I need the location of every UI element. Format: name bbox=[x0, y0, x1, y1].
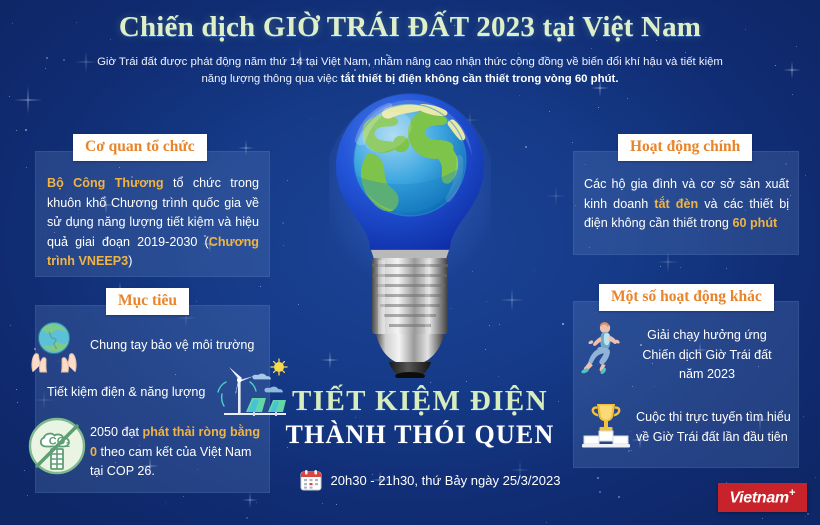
slogan-line-1: TIẾT KIỆM ĐIỆN bbox=[250, 385, 590, 418]
slogan-line-2: THÀNH THÓI QUEN bbox=[250, 420, 590, 450]
calendar-icon bbox=[300, 469, 322, 491]
subtitle-bold-text: tắt thiết bị điện không cần thiết trong … bbox=[341, 73, 619, 85]
event-date-text: 20h30 - 21h30, thứ Bảy ngày 25/3/2023 bbox=[331, 473, 561, 488]
text-co-quan-to-chuc: Bộ Công Thương tổ chức trong khuôn khổ C… bbox=[47, 174, 259, 272]
org-body-close: ) bbox=[128, 254, 132, 268]
logo-wordmark: Vietnam bbox=[729, 489, 789, 506]
infographic-poster: Chiến dịch GIỜ TRÁI ĐẤT 2023 tại Việt Na… bbox=[0, 0, 820, 525]
vietnamplus-logo[interactable]: Vietnam+ bbox=[718, 483, 807, 512]
trophy-podium-icon bbox=[578, 396, 634, 452]
goal-text-2: Tiết kiệm điện & năng lượng bbox=[47, 383, 247, 403]
page-title: Chiến dịch GIỜ TRÁI ĐẤT 2023 tại Việt Na… bbox=[0, 11, 820, 44]
org-highlight-ministry: Bộ Công Thương bbox=[47, 176, 164, 190]
goal-text-1: Chung tay bảo vệ môi trường bbox=[90, 336, 270, 356]
no-co2-icon: CO 2 bbox=[26, 415, 88, 477]
goal3-text-prefix: 2050 đạt bbox=[90, 425, 143, 439]
text-hoat-dong-chinh: Các hộ gia đình và cơ sở sản xuất kinh d… bbox=[584, 175, 789, 234]
section-label-hoat-dong-khac: Một số hoạt động khác bbox=[599, 284, 774, 311]
goal-text-3: 2050 đạt phát thải ròng bằng 0 theo cam … bbox=[90, 423, 265, 482]
earth-lightbulb-icon bbox=[329, 88, 491, 378]
event-date-row: 20h30 - 21h30, thứ Bảy ngày 25/3/2023 bbox=[250, 469, 610, 491]
svg-text:2: 2 bbox=[66, 440, 70, 449]
hands-globe-icon bbox=[25, 318, 83, 374]
section-label-hoat-dong-chinh: Hoạt động chính bbox=[618, 134, 752, 161]
other-activity-text-2: Cuộc thi trực tuyến tìm hiểu về Giờ Trái… bbox=[636, 408, 796, 447]
goal3-text-suffix: theo cam kết của Việt Nam tại COP 26. bbox=[90, 445, 251, 479]
logo-plus-symbol: + bbox=[789, 487, 795, 499]
other-activity-text-1: Giải chạy hưởng ứng Chiến dịch Giờ Trái … bbox=[632, 326, 782, 385]
section-label-co-quan-to-chuc: Cơ quan tổ chức bbox=[73, 134, 207, 161]
main-activity-highlight-60-phut: 60 phút bbox=[732, 216, 777, 230]
main-activity-highlight-tat-den: tắt đèn bbox=[654, 197, 698, 211]
section-label-muc-tieu: Mục tiêu bbox=[106, 288, 189, 315]
page-subtitle: Giờ Trái đất được phát động năm thứ 14 t… bbox=[88, 54, 732, 87]
runner-icon bbox=[578, 320, 628, 376]
